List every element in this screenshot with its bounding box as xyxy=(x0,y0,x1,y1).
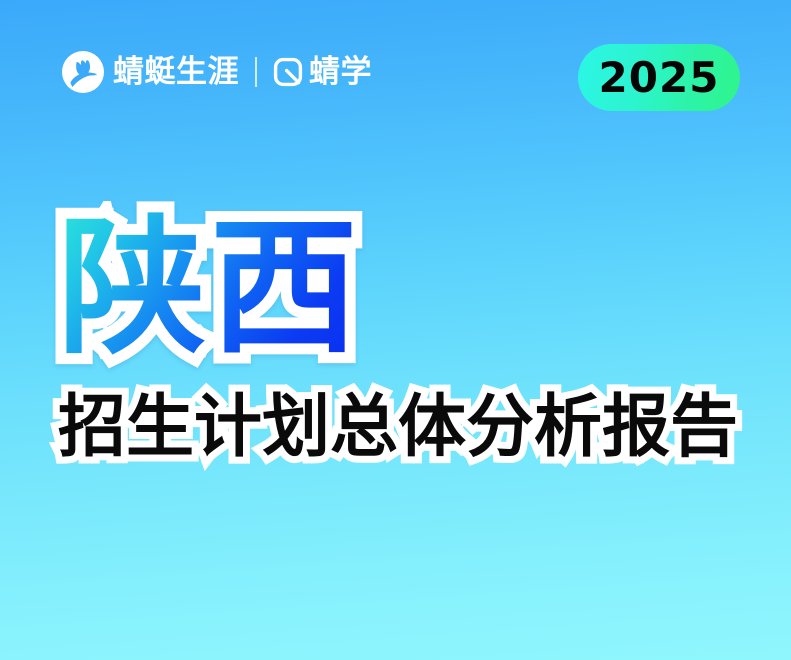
report-subtitle-fill: 招生计划总体分析报告 xyxy=(58,386,738,470)
brand-primary-name: 蜻蜓生涯 xyxy=(113,57,239,88)
brand-secondary-name: 蜻学 xyxy=(309,57,372,88)
tulip-leaf-icon xyxy=(62,51,104,93)
report-cover-poster: 蜻蜓生涯 蜻学 2025 陕西 陕西 招生计划总体分析报告 招生计划总体分析报告 xyxy=(0,0,791,660)
brand-lockup: 蜻蜓生涯 蜻学 xyxy=(62,48,372,96)
year-badge-label: 2025 xyxy=(599,57,720,99)
poster-header: 蜻蜓生涯 蜻学 2025 xyxy=(0,0,791,150)
q-square-icon xyxy=(273,57,303,87)
year-badge: 2025 xyxy=(578,44,740,111)
brand-divider xyxy=(255,57,257,87)
province-title-fill: 陕西 xyxy=(58,204,362,372)
